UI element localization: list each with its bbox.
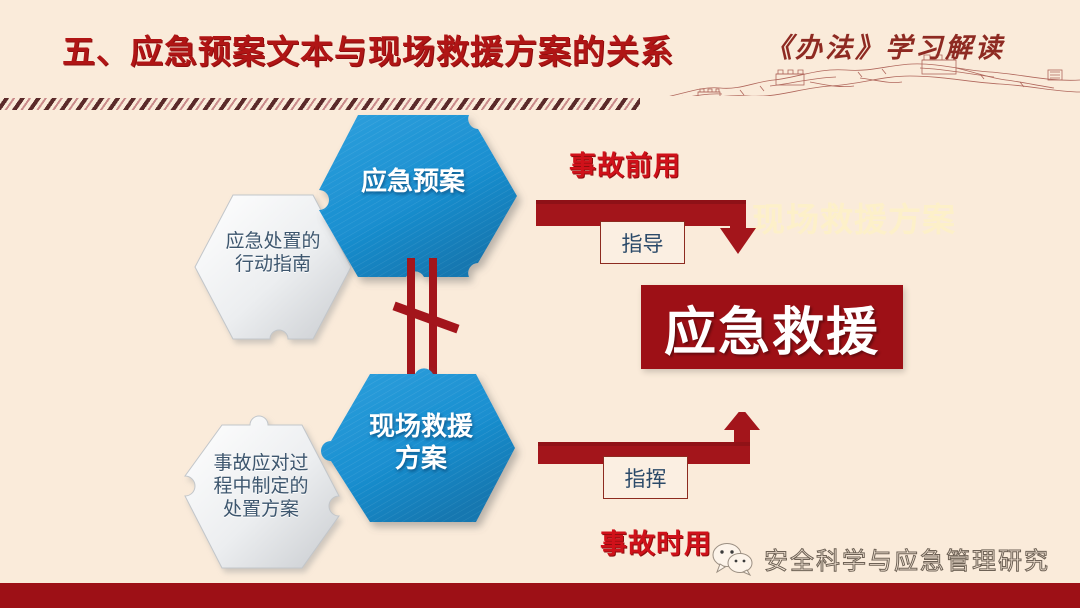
banner-emergency-rescue: 应急救援: [641, 285, 903, 369]
decor-stripe-mask: [640, 96, 1080, 112]
node-emergency-plan[interactable]: 应急预案: [303, 112, 523, 280]
ghost-text: 现场救援方案: [752, 193, 956, 241]
connector-label-command[interactable]: 指挥: [603, 456, 688, 499]
connector-label-guide[interactable]: 指导: [600, 221, 685, 264]
footer-bar: [0, 583, 1080, 608]
wechat-icon: [712, 542, 754, 576]
phase-label-before-accident: 事故前用: [569, 144, 681, 183]
node-scene-detail[interactable]: 事故应对过 程中制定的 处置方案: [178, 420, 344, 572]
not-equal-icon: [398, 258, 468, 384]
header-calligraphy: 《办法》学习解读: [765, 26, 1005, 65]
page-title: 五、应急预案文本与现场救援方案的关系: [62, 25, 674, 73]
phase-label-during-accident: 事故时用: [600, 522, 712, 561]
watermark: 安全科学与应急管理研究: [712, 541, 1050, 576]
slide-canvas: 五、应急预案文本与现场救援方案的关系 《办法》学习解读: [0, 0, 1080, 608]
node-scene-rescue-plan[interactable]: 现场救援 方案: [318, 368, 524, 528]
watermark-text: 安全科学与应急管理研究: [764, 541, 1050, 576]
